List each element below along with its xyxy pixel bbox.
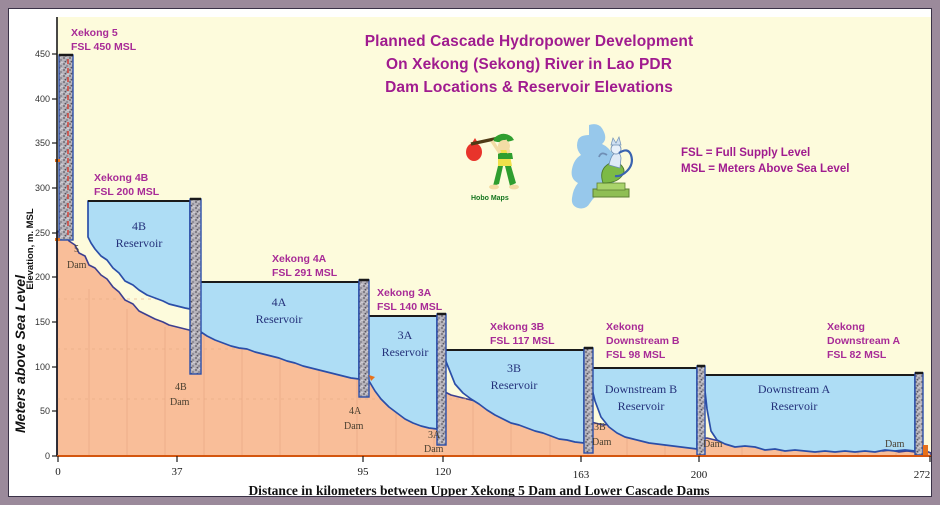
title-line-1: Planned Cascade Hydropower Development: [365, 33, 694, 50]
label-xekong-3b-line-2: FSL 117 MSL: [490, 335, 555, 347]
title-line-3: Dam Locations & Reservoir Elevations: [385, 79, 673, 96]
label-downstream-b-line-2: Downstream B: [606, 335, 680, 347]
dam-4a-name-line-1: 4A: [349, 406, 362, 417]
chart-title: Planned Cascade Hydropower Development O…: [365, 33, 694, 96]
x-tick-120: 120: [435, 466, 452, 478]
label-xekong-4b-line-2: FSL 200 MSL: [94, 186, 160, 198]
label-downstream-b-line-3: FSL 98 MSL: [606, 349, 666, 361]
label-xekong-3b-line-1: Xekong 3B: [490, 321, 545, 333]
label-downstream-a-line-2: Downstream A: [827, 335, 901, 347]
label-downstream-b-line-1: Xekong: [606, 321, 644, 333]
chart-stage: Planned Cascade Hydropower Development O…: [9, 9, 931, 496]
label-xekong-5-line-1: Xekong 5: [71, 27, 118, 39]
y-tick-100: 100: [35, 362, 50, 372]
dam-downstream-a[interactable]: [915, 373, 923, 455]
x-axis-label: Distance in kilometers between Upper Xek…: [248, 483, 709, 496]
reservoir-4b-label-line-2: Reservoir: [116, 236, 163, 250]
reservoir-4a-label-line-2: Reservoir: [256, 312, 303, 326]
x-tick-272: 272: [914, 469, 931, 481]
legend-line-2: MSL = Meters Above Sea Level: [681, 163, 849, 175]
reservoir-3b-label-line-2: Reservoir: [491, 378, 538, 392]
label-xekong-4a-line-2: FSL 291 MSL: [272, 267, 338, 279]
label-xekong-4a-line-1: Xekong 4A: [272, 253, 327, 265]
dam-4b-name-line-1: 4B: [175, 382, 187, 393]
y-tick-200: 200: [35, 272, 50, 282]
y-tick-150: 150: [35, 317, 50, 327]
dam-xekong-4a[interactable]: [359, 280, 369, 397]
reservoir-3a-label-line-2: Reservoir: [382, 345, 429, 359]
reservoir-4a-label-line-1: 4A: [272, 295, 287, 309]
reservoir-downstream-b-label-line-2: Reservoir: [618, 399, 665, 413]
dam-downstream-b-name: Dam: [703, 439, 723, 450]
label-downstream-a-line-3: FSL 82 MSL: [827, 349, 887, 361]
label-xekong-3a-line-1: Xekong 3A: [377, 287, 432, 299]
hobo-maps-label: Hobo Maps: [471, 195, 509, 202]
reservoir-4b-label-line-1: 4B: [132, 219, 146, 233]
x-tick-200: 200: [691, 469, 708, 481]
reservoir-3b-label-line-1: 3B: [507, 361, 521, 375]
x-tick-163: 163: [573, 469, 590, 481]
y-tick-0: 0: [45, 451, 50, 461]
dam-xekong-4b[interactable]: [190, 199, 201, 374]
cascade-profile-chart: Planned Cascade Hydropower Development O…: [9, 9, 931, 496]
dam-downstream-a-name: Dam: [885, 439, 905, 450]
dam-3a-name-line-2: Dam: [424, 444, 444, 455]
label-xekong-5-line-2: FSL 450 MSL: [71, 41, 137, 53]
y-tick-450: 450: [35, 49, 50, 59]
y-tick-50: 50: [40, 406, 50, 416]
dam-xekong-5[interactable]: [59, 55, 73, 240]
y-tick-350: 350: [35, 138, 50, 148]
y-tick-300: 300: [35, 183, 50, 193]
dam-4a-name-line-2: Dam: [344, 421, 364, 432]
dam-3b-name-line-1: 3B: [594, 422, 606, 433]
dam-xekong-3a[interactable]: [437, 314, 446, 445]
reservoir-downstream-a-label-line-2: Reservoir: [771, 399, 818, 413]
label-xekong-4b-line-1: Xekong 4B: [94, 172, 149, 184]
dam-4b-name-line-2: Dam: [170, 397, 190, 408]
dam-3b-name-line-2: Dam: [592, 437, 612, 448]
label-xekong-3a-line-2: FSL 140 MSL: [377, 301, 443, 313]
dam-5-name-line-2: Dam: [67, 260, 87, 271]
x-tick-0: 0: [55, 466, 61, 478]
reservoir-3a-label-line-1: 3A: [398, 328, 413, 342]
reservoir-downstream-a-label-line-1: Downstream A: [758, 382, 831, 396]
label-downstream-a-line-1: Xekong: [827, 321, 865, 333]
dam-3a-name-line-1: 3A: [428, 430, 441, 441]
figure-frame: Planned Cascade Hydropower Development O…: [8, 8, 932, 497]
reservoir-downstream-b-label-line-1: Downstream B: [605, 382, 677, 396]
x-tick-37: 37: [172, 466, 184, 478]
title-line-2: On Xekong (Sekong) River in Lao PDR: [386, 56, 672, 73]
x-tick-95: 95: [358, 466, 370, 478]
y-axis-label-large: Meters above Sea Level: [12, 274, 28, 433]
y-tick-250: 250: [35, 228, 50, 238]
legend-line-1: FSL = Full Supply Level: [681, 147, 810, 159]
y-tick-400: 400: [35, 94, 50, 104]
dam-5-name-line-1: 5: [74, 244, 79, 255]
